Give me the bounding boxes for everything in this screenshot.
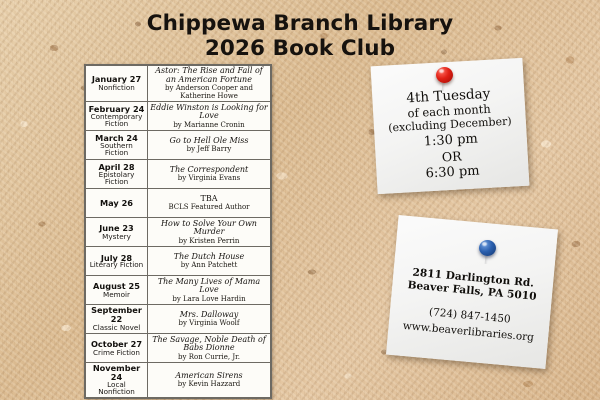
book-author: by Ann Patchett (150, 261, 268, 269)
schedule-date-cell: January 27Nonfiction (86, 66, 148, 102)
meeting-date: September 22 (88, 306, 145, 324)
book-title: The Dutch House (150, 253, 268, 262)
schedule-book-cell: Go to Hell Ole Missby Jeff Barry (148, 131, 271, 160)
schedule-date-cell: September 22Classic Novel (86, 305, 148, 334)
table-row: March 24Southern FictionGo to Hell Ole M… (86, 131, 271, 160)
book-genre: Nonfiction (88, 84, 145, 91)
schedule-date-cell: March 24Southern Fiction (86, 131, 148, 160)
book-author: by Virginia Woolf (150, 319, 268, 327)
table-row: August 25MemoirThe Many Lives of Mama Lo… (86, 276, 271, 305)
table-row: June 23MysteryHow to Solve Your Own Murd… (86, 218, 271, 247)
meeting-date: May 26 (88, 199, 145, 208)
schedule-book-cell: How to Solve Your Own Murderby Kristen P… (148, 218, 271, 247)
book-author: by Virginia Evans (150, 174, 268, 182)
schedule-book-cell: The Many Lives of Mama Loveby Lara Love … (148, 276, 271, 305)
book-club-schedule-table: January 27NonfictionAstor: The Rise and … (84, 64, 272, 399)
schedule-date-cell: July 28Literary Fiction (86, 247, 148, 276)
book-title: Astor: The Rise and Fall of an American … (150, 67, 268, 84)
table-row: April 28Epistolary FictionThe Correspond… (86, 160, 271, 189)
meeting-time-second: 6:30 pm (425, 163, 480, 182)
book-title: Eddie Winston is Looking for Love (150, 104, 268, 121)
table-row: September 22Classic NovelMrs. Dallowayby… (86, 305, 271, 334)
schedule-date-cell: February 24Contemporary Fiction (86, 102, 148, 131)
table-row: January 27NonfictionAstor: The Rise and … (86, 66, 271, 102)
book-title: Mrs. Dalloway (150, 311, 268, 320)
table-row: July 28Literary FictionThe Dutch Houseby… (86, 247, 271, 276)
book-author: by Lara Love Hardin (150, 295, 268, 303)
library-website-url[interactable]: www.beaverlibraries.org (402, 319, 534, 344)
schedule-date-cell: June 23Mystery (86, 218, 148, 247)
book-author: by Marianne Cronin (150, 121, 268, 129)
book-author: by Anderson Cooper and Katherine Howe (150, 84, 268, 100)
book-genre: Mystery (88, 233, 145, 240)
book-title: How to Solve Your Own Murder (150, 220, 268, 237)
library-address-note: 2811 Darlington Rd. Beaver Falls, PA 501… (386, 215, 558, 369)
meeting-time-separator: OR (441, 148, 461, 164)
table-row: October 27Crime FictionThe Savage, Noble… (86, 334, 271, 363)
blue-pushpin-icon (479, 240, 496, 256)
book-title: The Correspondent (150, 166, 268, 175)
schedule-book-cell: The Dutch Houseby Ann Patchett (148, 247, 271, 276)
book-title: TBA (150, 195, 268, 204)
schedule-book-cell: The Correspondentby Virginia Evans (148, 160, 271, 189)
book-genre: Epistolary Fiction (88, 171, 145, 186)
table-row: February 24Contemporary FictionEddie Win… (86, 102, 271, 131)
meeting-time-first: 1:30 pm (423, 131, 478, 150)
schedule-date-cell: May 26 (86, 189, 148, 218)
book-title: Go to Hell Ole Miss (150, 137, 268, 146)
schedule-book-cell: TBABCLS Featured Author (148, 189, 271, 218)
book-title: The Savage, Noble Death of Babs Dionne (150, 336, 268, 353)
blue-pin-head (479, 240, 496, 256)
address-note-content: 2811 Darlington Rd. Beaver Falls, PA 501… (386, 215, 558, 369)
red-pushpin-icon (436, 67, 453, 83)
title-line-1: Chippewa Branch Library (0, 11, 600, 36)
book-author: by Kristen Perrin (150, 237, 268, 245)
book-author: by Ron Currie, Jr. (150, 353, 268, 361)
schedule-book-cell: The Savage, Noble Death of Babs Dionneby… (148, 334, 271, 363)
schedule-date-cell: April 28Epistolary Fiction (86, 160, 148, 189)
book-genre: Local Nonfiction (88, 381, 145, 396)
title-line-2: 2026 Book Club (0, 36, 600, 61)
book-author: BCLS Featured Author (150, 203, 268, 211)
red-pin-head (436, 67, 453, 83)
book-title: The Many Lives of Mama Love (150, 278, 268, 295)
book-author: by Jeff Barry (150, 145, 268, 153)
schedule-book-cell: Eddie Winston is Looking for Loveby Mari… (148, 102, 271, 131)
schedule-table-grid: January 27NonfictionAstor: The Rise and … (85, 65, 271, 398)
schedule-book-cell: Mrs. Dallowayby Virginia Woolf (148, 305, 271, 334)
book-genre: Crime Fiction (88, 349, 145, 356)
book-title: American Sirens (150, 372, 268, 381)
schedule-date-cell: August 25Memoir (86, 276, 148, 305)
page-title: Chippewa Branch Library 2026 Book Club (0, 11, 600, 61)
book-genre: Literary Fiction (88, 261, 145, 268)
schedule-date-cell: October 27Crime Fiction (86, 334, 148, 363)
schedule-book-cell: Astor: The Rise and Fall of an American … (148, 66, 271, 102)
book-genre: Memoir (88, 291, 145, 298)
book-genre: Southern Fiction (88, 142, 145, 157)
book-genre: Classic Novel (88, 324, 145, 331)
table-row: November 24Local NonfictionAmerican Sire… (86, 363, 271, 397)
book-author: by Kevin Hazzard (150, 380, 268, 388)
schedule-table-body: January 27NonfictionAstor: The Rise and … (86, 66, 271, 398)
schedule-date-cell: November 24Local Nonfiction (86, 363, 148, 397)
schedule-book-cell: American Sirensby Kevin Hazzard (148, 363, 271, 397)
book-genre: Contemporary Fiction (88, 113, 145, 128)
table-row: May 26TBABCLS Featured Author (86, 189, 271, 218)
